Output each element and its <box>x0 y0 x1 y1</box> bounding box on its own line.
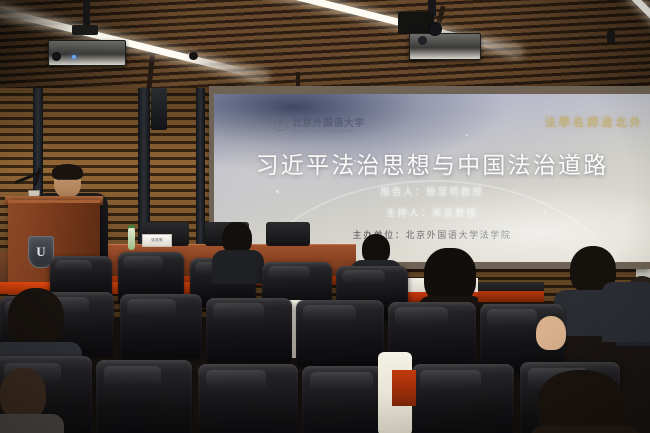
audience-seat <box>198 364 298 433</box>
projector-arm <box>83 0 90 27</box>
audience-head <box>8 288 64 346</box>
presenter-hair <box>52 164 83 180</box>
wall-speaker <box>151 88 167 130</box>
desk-row <box>478 290 544 302</box>
audience-shoulders <box>212 250 264 284</box>
audience-head <box>0 368 46 420</box>
name-card-text: 徐显明 <box>151 238 162 243</box>
audience-seat <box>120 294 202 358</box>
audience-seat <box>96 360 192 433</box>
slide-main-title: 习近平法治思想与中国法治道路 <box>214 146 650 180</box>
desk-row-top <box>478 282 544 291</box>
podium-emblem-glyph: U <box>36 244 45 260</box>
audience-shoulders <box>602 282 650 342</box>
lecture-series-tag: 法學名師進北外 <box>545 114 644 130</box>
audience-seat <box>412 364 514 433</box>
audience-hair-long <box>530 426 640 433</box>
audience-shoulders <box>0 414 64 433</box>
audience-seat <box>206 298 292 362</box>
university-logo-mark-icon: 大 <box>274 118 287 131</box>
audience-seat <box>296 300 384 366</box>
stage-chair <box>266 222 310 246</box>
university-name-cn: 北京外国语大学 <box>292 115 365 129</box>
audience-head <box>538 370 624 433</box>
logo-mark-glyph: 大 <box>277 120 285 128</box>
wall-column <box>196 88 205 248</box>
projector-lens-icon <box>52 52 61 61</box>
slide-speaker-line: 报告人：徐显明教授 <box>214 184 650 198</box>
projector-mount <box>72 25 98 35</box>
presenter-glasses-icon <box>57 179 77 184</box>
projector-lens-icon <box>428 22 442 36</box>
lecture-hall-photo: 大 北京外国语大学 BEIJING FOREIGN STUDIES UNIVER… <box>0 0 650 433</box>
audience-head <box>536 316 566 350</box>
ceiling-camera <box>189 52 198 60</box>
name-card: 徐显明 <box>142 234 172 247</box>
slide-host-line: 主持人：米良教授 <box>214 205 650 219</box>
water-bottle <box>128 228 135 250</box>
wooden-slat-ceiling <box>0 0 650 96</box>
ceiling-camera <box>607 30 615 44</box>
sparkle-dot <box>466 134 468 136</box>
projector-lens-icon <box>418 36 427 45</box>
university-logo: 大 北京外国语大学 BEIJING FOREIGN STUDIES UNIVER… <box>274 115 365 133</box>
desk-row <box>392 370 416 406</box>
university-name-en: BEIJING FOREIGN STUDIES UNIVERSITY <box>292 130 365 133</box>
projector-indicator-light <box>72 55 76 59</box>
